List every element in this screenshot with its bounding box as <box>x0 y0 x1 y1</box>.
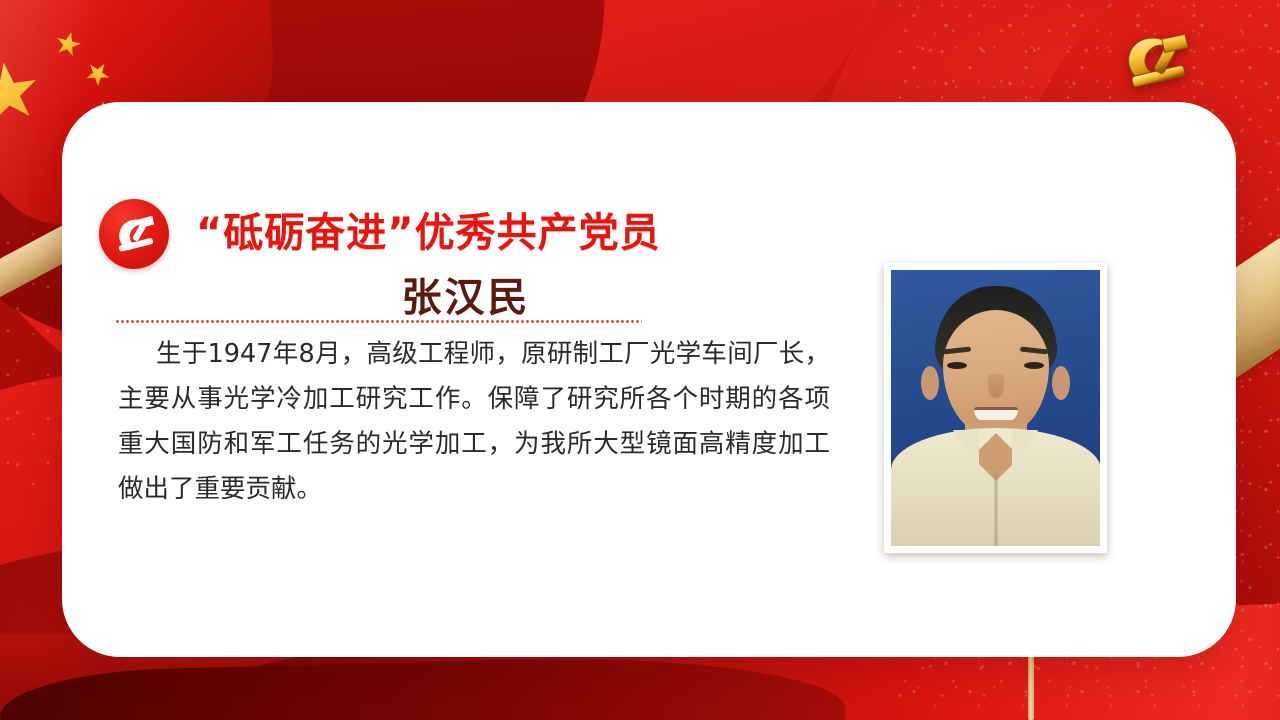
portrait-collar-left <box>953 430 979 472</box>
gold-stick <box>1028 648 1034 720</box>
portrait-eye-left <box>947 362 967 369</box>
party-emblem-icon <box>99 199 169 269</box>
hammer-sickle-white-icon <box>110 210 158 258</box>
person-name: 张汉民 <box>196 265 736 323</box>
slide-canvas: “砥砺奋进”优秀共产党员 张汉民 生于1947年8月，高级工程师，原研制工厂光学… <box>0 0 1280 720</box>
portrait-eye-right <box>1024 362 1044 369</box>
portrait-image <box>891 270 1100 546</box>
page-title: “砥砺奋进”优秀共产党员 <box>196 200 736 258</box>
dotted-divider <box>115 320 642 323</box>
portrait-placket <box>994 472 997 546</box>
portrait-photo <box>884 263 1107 553</box>
hammer-sickle-gold-icon <box>1118 26 1202 94</box>
portrait-collar-right <box>1012 430 1038 472</box>
portrait-ear-right <box>1052 366 1070 400</box>
background-ribbon-bottom-dark <box>0 651 846 720</box>
biography-text: 生于1947年8月，高级工程师，原研制工厂光学车间厂长，主要从事光学冷加工研究工… <box>118 332 830 512</box>
portrait-ear-left <box>921 366 939 400</box>
portrait-nose <box>988 374 1004 398</box>
